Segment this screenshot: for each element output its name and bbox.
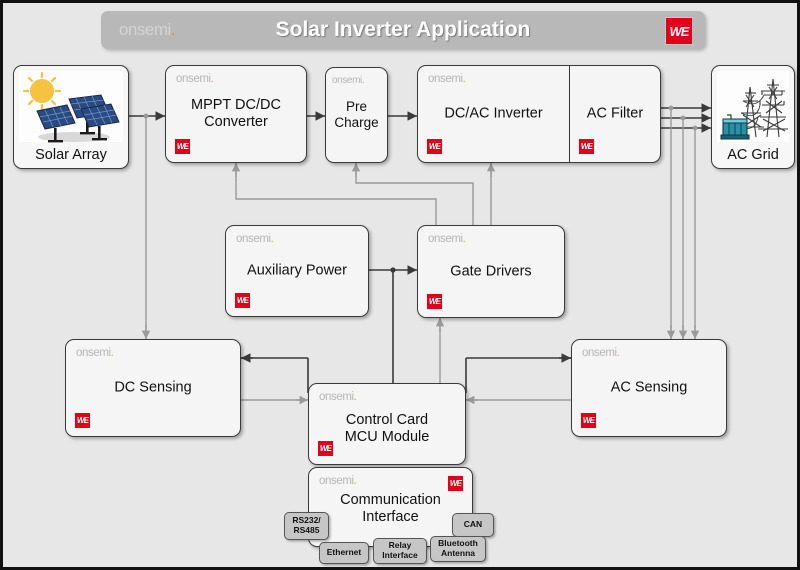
we-badge-icon: WE bbox=[427, 139, 442, 154]
port-ethernet[interactable]: Ethernet bbox=[319, 542, 369, 564]
onsemi-mark: onsemi. bbox=[319, 475, 356, 487]
solar-array-icon bbox=[19, 71, 125, 145]
onsemi-mark: onsemi. bbox=[176, 73, 213, 85]
block-communication-interface[interactable]: onsemi. CommunicationInterface WE bbox=[308, 467, 473, 547]
we-badge-icon: WE bbox=[448, 476, 463, 491]
block-label: MPPT DC/DCConverter bbox=[166, 97, 306, 131]
block-label: PreCharge bbox=[326, 99, 387, 131]
block-gate-drivers[interactable]: onsemi. Gate Drivers WE bbox=[417, 225, 565, 318]
ac-grid-label: AC Grid bbox=[712, 147, 794, 163]
solar-panels-icon bbox=[37, 95, 119, 142]
block-label: Auxiliary Power bbox=[226, 262, 368, 279]
we-badge-icon: WE bbox=[427, 294, 442, 309]
block-ac-grid[interactable]: AC Grid bbox=[711, 65, 795, 169]
block-label: Gate Drivers bbox=[418, 263, 564, 280]
onsemi-mark: onsemi. bbox=[428, 73, 465, 85]
block-ac-sensing[interactable]: onsemi. AC Sensing WE bbox=[571, 339, 727, 437]
port-rs232-rs485[interactable]: RS232/RS485 bbox=[284, 512, 329, 540]
onsemi-mark: onsemi. bbox=[332, 75, 364, 86]
onsemi-mark: onsemi. bbox=[428, 233, 465, 245]
we-badge-icon: WE bbox=[579, 139, 594, 154]
block-dcac-inverter[interactable]: onsemi. DC/AC Inverter WE bbox=[417, 65, 569, 163]
ac-grid-icon bbox=[717, 71, 791, 145]
block-control-card[interactable]: onsemi. Control CardMCU Module WE bbox=[308, 383, 466, 465]
block-label: CommunicationInterface bbox=[309, 491, 472, 525]
sun-icon bbox=[24, 73, 60, 109]
onsemi-mark: onsemi. bbox=[319, 391, 356, 403]
block-label: DC/AC Inverter bbox=[418, 105, 569, 122]
we-badge-icon: WE bbox=[75, 413, 90, 428]
port-relay-interface[interactable]: RelayInterface bbox=[373, 538, 427, 564]
solar-array-label: Solar Array bbox=[14, 147, 128, 163]
block-ac-filter[interactable]: AC Filter WE bbox=[569, 65, 661, 163]
block-pre-charge[interactable]: onsemi. PreCharge bbox=[325, 67, 388, 163]
onsemi-mark: onsemi. bbox=[76, 347, 113, 359]
diagram-canvas: onsemi. Solar Inverter Application WE bbox=[0, 0, 800, 570]
block-dc-sensing[interactable]: onsemi. DC Sensing WE bbox=[65, 339, 241, 437]
we-badge-icon: WE bbox=[318, 441, 333, 456]
block-label: AC Sensing bbox=[572, 379, 726, 396]
port-bluetooth-antenna[interactable]: BluetoothAntenna bbox=[430, 536, 486, 562]
we-badge-icon: WE bbox=[581, 413, 596, 428]
ac-grid-icon-area bbox=[717, 71, 789, 142]
block-label: AC Filter bbox=[570, 105, 660, 122]
block-auxiliary-power[interactable]: onsemi. Auxiliary Power WE bbox=[225, 225, 369, 317]
block-mppt-converter[interactable]: onsemi. MPPT DC/DCConverter WE bbox=[165, 65, 307, 163]
transformer-icon bbox=[721, 115, 749, 139]
solar-array-icon-area bbox=[19, 71, 123, 142]
we-badge-icon: WE bbox=[175, 139, 190, 154]
onsemi-mark: onsemi. bbox=[236, 233, 273, 245]
we-badge-icon: WE bbox=[235, 293, 250, 308]
port-can[interactable]: CAN bbox=[452, 513, 494, 537]
onsemi-mark: onsemi. bbox=[582, 347, 619, 359]
block-label: DC Sensing bbox=[66, 379, 240, 396]
block-solar-array[interactable]: Solar Array bbox=[13, 65, 129, 169]
